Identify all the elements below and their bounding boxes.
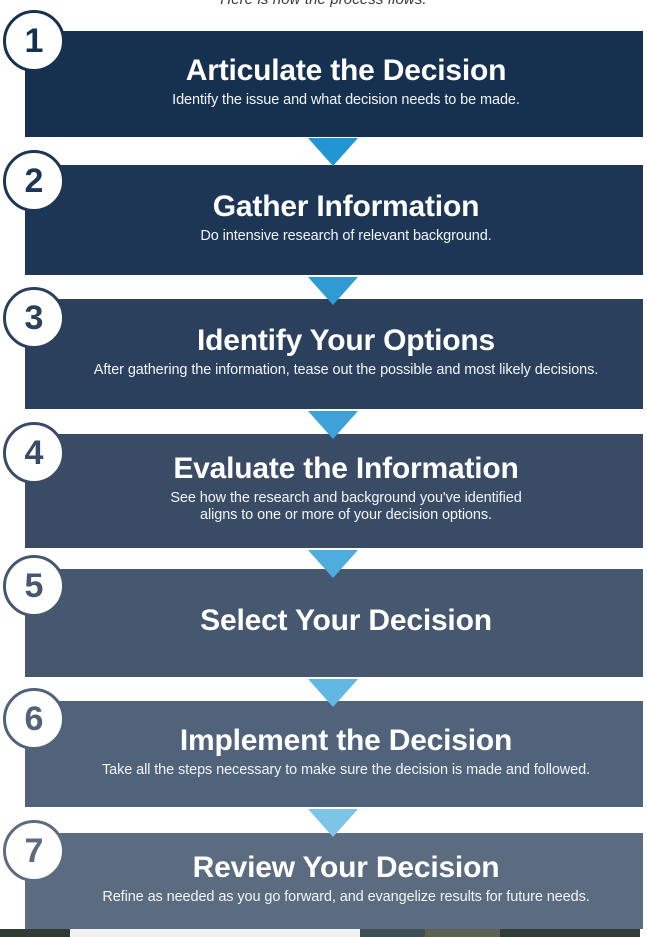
decision-process-flow: Articulate the DecisionIdentify the issu… — [0, 0, 647, 937]
step-title: Select Your Decision — [200, 605, 492, 637]
flow-arrow-icon — [308, 138, 358, 166]
step-subtitle: Do intensive research of relevant backgr… — [200, 228, 491, 246]
step-subtitle: See how the research and background you'… — [170, 490, 521, 525]
step-number-badge: 1 — [3, 10, 65, 72]
step-subtitle: Take all the steps necessary to make sur… — [102, 762, 590, 780]
chrome-segment — [500, 929, 640, 937]
process-step: Identify Your OptionsAfter gathering the… — [0, 299, 647, 409]
step-band: Implement the DecisionTake all the steps… — [25, 701, 643, 807]
step-band: Identify Your OptionsAfter gathering the… — [25, 299, 643, 409]
process-step: Review Your DecisionRefine as needed as … — [0, 833, 647, 929]
flow-arrow-icon — [308, 411, 358, 439]
flow-arrow-icon — [308, 809, 358, 837]
step-number-badge: 2 — [3, 150, 65, 212]
step-band: Articulate the DecisionIdentify the issu… — [25, 31, 643, 137]
process-step: Evaluate the InformationSee how the rese… — [0, 434, 647, 548]
step-band: Evaluate the InformationSee how the rese… — [25, 434, 643, 548]
chrome-segment — [70, 929, 360, 937]
step-title: Identify Your Options — [197, 325, 495, 357]
step-band: Select Your Decision — [25, 569, 643, 677]
step-subtitle: Refine as needed as you go forward, and … — [102, 889, 589, 907]
chrome-segment — [360, 929, 425, 937]
chrome-segment — [640, 929, 647, 937]
chrome-segment — [0, 929, 70, 937]
process-step: Implement the DecisionTake all the steps… — [0, 701, 647, 807]
chrome-segment — [425, 929, 500, 937]
step-subtitle: After gathering the information, tease o… — [94, 362, 598, 380]
bottom-window-chrome — [0, 929, 647, 937]
process-step: Gather InformationDo intensive research … — [0, 165, 647, 275]
step-subtitle: Identify the issue and what decision nee… — [172, 92, 520, 110]
step-number-badge: 6 — [3, 688, 65, 750]
flow-arrow-icon — [308, 550, 358, 578]
infographic-root: Here is how the process flows. Articulat… — [0, 0, 647, 937]
step-number-badge: 5 — [3, 555, 65, 617]
step-title: Evaluate the Information — [173, 453, 518, 485]
step-title: Review Your Decision — [193, 852, 500, 884]
step-number-badge: 7 — [3, 820, 65, 882]
step-band: Gather InformationDo intensive research … — [25, 165, 643, 275]
process-step: Articulate the DecisionIdentify the issu… — [0, 31, 647, 137]
step-title: Implement the Decision — [180, 725, 512, 757]
step-number-badge: 3 — [3, 287, 65, 349]
process-step: Select Your Decision — [0, 569, 647, 677]
flow-arrow-icon — [308, 277, 358, 305]
step-title: Gather Information — [213, 191, 479, 223]
flow-arrow-icon — [308, 679, 358, 707]
step-band: Review Your DecisionRefine as needed as … — [25, 833, 643, 929]
step-number-badge: 4 — [3, 422, 65, 484]
step-title: Articulate the Decision — [186, 55, 506, 87]
